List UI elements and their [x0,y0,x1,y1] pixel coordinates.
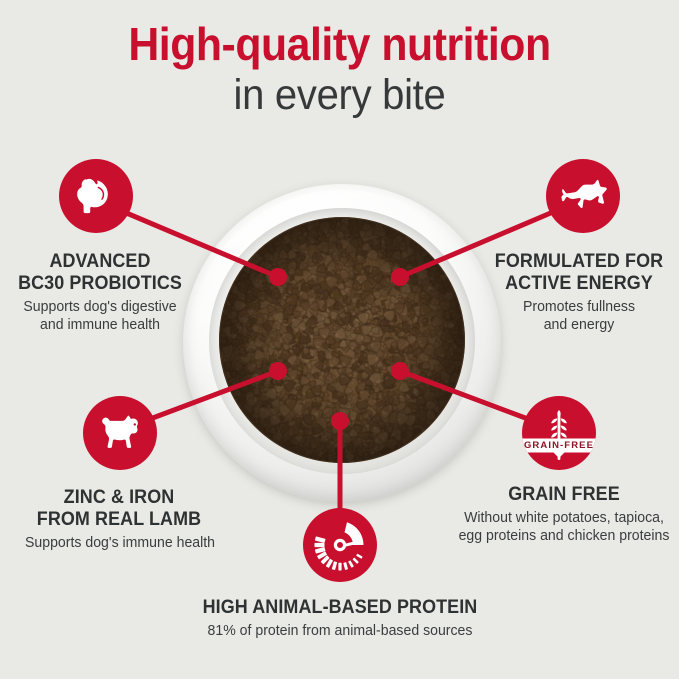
stomach-icon [73,173,119,219]
feature-sub-grain-free-line2: egg proteins and chicken proteins [456,527,672,545]
feature-heading-zinc-iron-line2: FROM REAL LAMB [27,508,211,530]
wheat-grain-free-badge-icon [522,396,596,470]
feature-sub-animal-protein-line1: 81% of protein from animal-based sources [170,622,510,640]
feature-heading-active-energy-line2: ACTIVE ENERGY [487,272,671,294]
feature-badge-zinc-iron[interactable] [83,396,157,470]
feature-sub-probiotics-line2: and immune health [6,316,194,334]
feature-heading-zinc-iron-line1: ZINC & IRON [27,486,211,508]
feature-badge-animal-protein[interactable] [303,508,377,582]
grain-free-badge-text: GRAIN-FREE [524,440,594,451]
feature-badge-probiotics[interactable] [59,159,133,233]
feature-text-probiotics: ADVANCED BC30 PROBIOTICS Supports dog's … [0,250,200,334]
feature-heading-probiotics-line2: BC30 PROBIOTICS [8,272,192,294]
feature-sub-probiotics-line1: Supports dog's digestive [6,298,194,316]
speedometer-gauge-icon [309,514,371,576]
feature-text-active-energy: FORMULATED FOR ACTIVE ENERGY Promotes fu… [479,250,679,334]
infographic-canvas: High-quality nutrition in every bite [0,0,679,679]
feature-text-grain-free: GRAIN FREE Without white potatoes, tapio… [449,483,679,545]
kibble-bowl-image [183,184,501,502]
feature-sub-grain-free-line1: Without white potatoes, tapioca, [456,509,672,527]
feature-text-animal-protein: HIGH ANIMAL-BASED PROTEIN 81% of protein… [159,596,521,640]
running-dog-icon [557,170,609,222]
lamb-icon [95,408,145,458]
feature-heading-probiotics-line1: ADVANCED [8,250,192,272]
feature-sub-active-energy-line1: Promotes fullness [485,298,673,316]
feature-badge-grain-free[interactable]: GRAIN-FREE [522,396,596,470]
feature-sub-active-energy-line2: and energy [485,316,673,334]
feature-heading-animal-protein-line1: HIGH ANIMAL-BASED PROTEIN [173,596,506,618]
feature-text-zinc-iron: ZINC & IRON FROM REAL LAMB Supports dog'… [19,486,219,552]
kibble-pile [219,217,465,463]
title-line-2: in every bite [24,70,655,120]
feature-badge-active-energy[interactable] [546,159,620,233]
grain-free-badge-band: GRAIN-FREE [522,439,596,453]
feature-heading-active-energy-line1: FORMULATED FOR [487,250,671,272]
title-line-1: High-quality nutrition [24,18,655,70]
feature-sub-zinc-iron-line1: Supports dog's immune health [25,534,213,552]
page-title: High-quality nutrition in every bite [0,18,679,120]
feature-heading-grain-free-line1: GRAIN FREE [458,483,670,505]
